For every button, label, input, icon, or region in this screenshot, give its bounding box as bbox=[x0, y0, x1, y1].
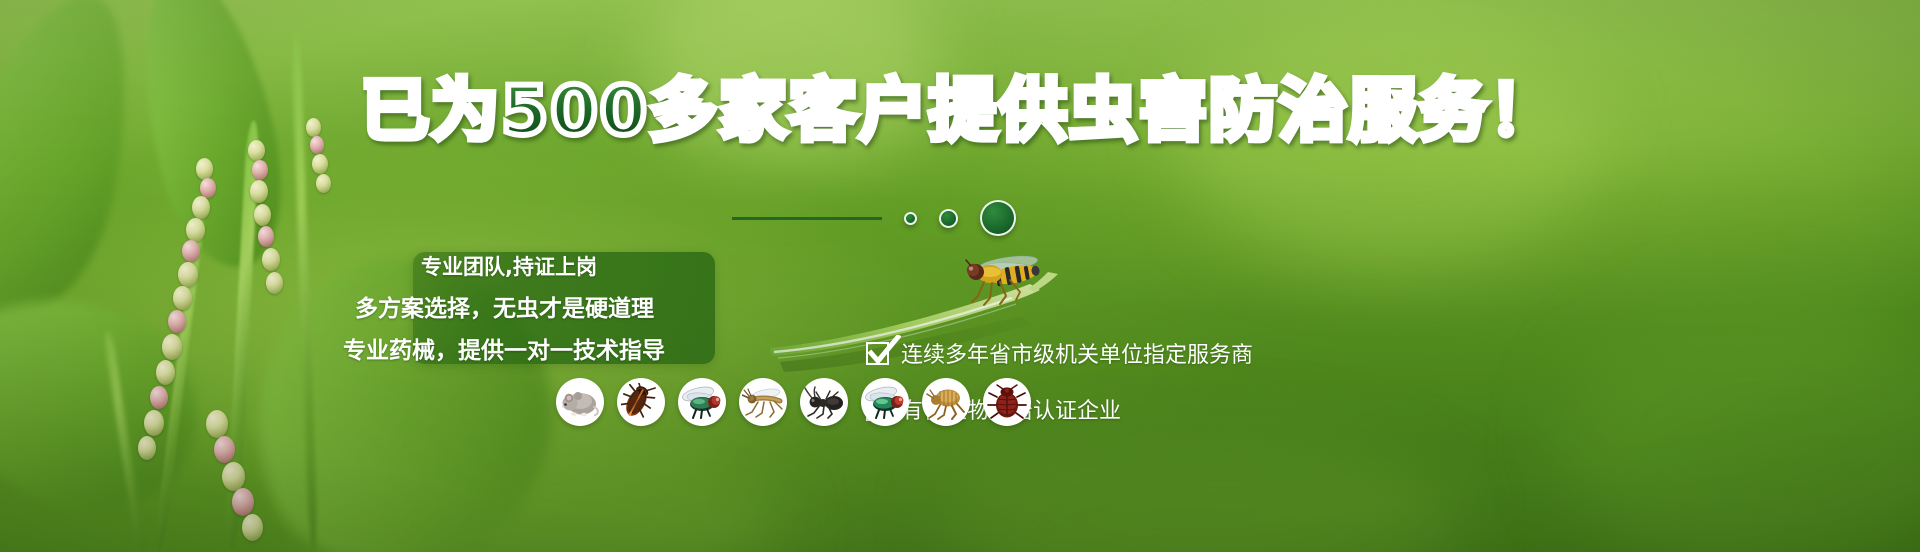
bedbug-icon bbox=[987, 384, 1027, 420]
pest-icon-flea[interactable] bbox=[922, 378, 970, 426]
pest-icon-mosquito[interactable] bbox=[739, 378, 787, 426]
decoration-dots bbox=[0, 200, 1920, 236]
blowfly-icon bbox=[864, 385, 906, 419]
pest-icon-bedbug[interactable] bbox=[983, 378, 1031, 426]
pest-icon-blowfly[interactable] bbox=[861, 378, 909, 426]
decoration-dot-medium bbox=[939, 209, 958, 228]
decoration-dot-large bbox=[980, 200, 1016, 236]
mouse-icon bbox=[560, 385, 600, 419]
feature-panel bbox=[413, 252, 715, 364]
decoration-rule-left bbox=[732, 217, 882, 220]
pest-icon-cockroach[interactable] bbox=[617, 378, 665, 426]
banner-stage: 已为500多家客户提供虫害防治服务！ 专业团队,持证上岗 多方案选择，无虫才是硬… bbox=[0, 0, 1920, 552]
headline: 已为500多家客户提供虫害防治服务！ bbox=[0, 78, 1920, 146]
mosquito-icon bbox=[742, 385, 784, 419]
pest-icon-strip bbox=[556, 378, 1031, 426]
fly-icon bbox=[681, 385, 723, 419]
decoration-dot-small bbox=[904, 212, 917, 225]
pest-icon-fly[interactable] bbox=[678, 378, 726, 426]
checklist-item: 连续多年省市级机关单位指定服务商 bbox=[866, 337, 1253, 369]
pest-icon-ant[interactable] bbox=[800, 378, 848, 426]
headline-text: 已为500多家客户提供虫害防治服务！ bbox=[361, 78, 1559, 146]
checklist-label: 连续多年省市级机关单位指定服务商 bbox=[901, 337, 1253, 369]
flea-icon bbox=[926, 384, 966, 420]
cockroach-icon bbox=[621, 383, 661, 421]
ant-icon bbox=[804, 385, 844, 419]
pest-icon-mouse[interactable] bbox=[556, 378, 604, 426]
check-square-icon bbox=[866, 342, 889, 365]
